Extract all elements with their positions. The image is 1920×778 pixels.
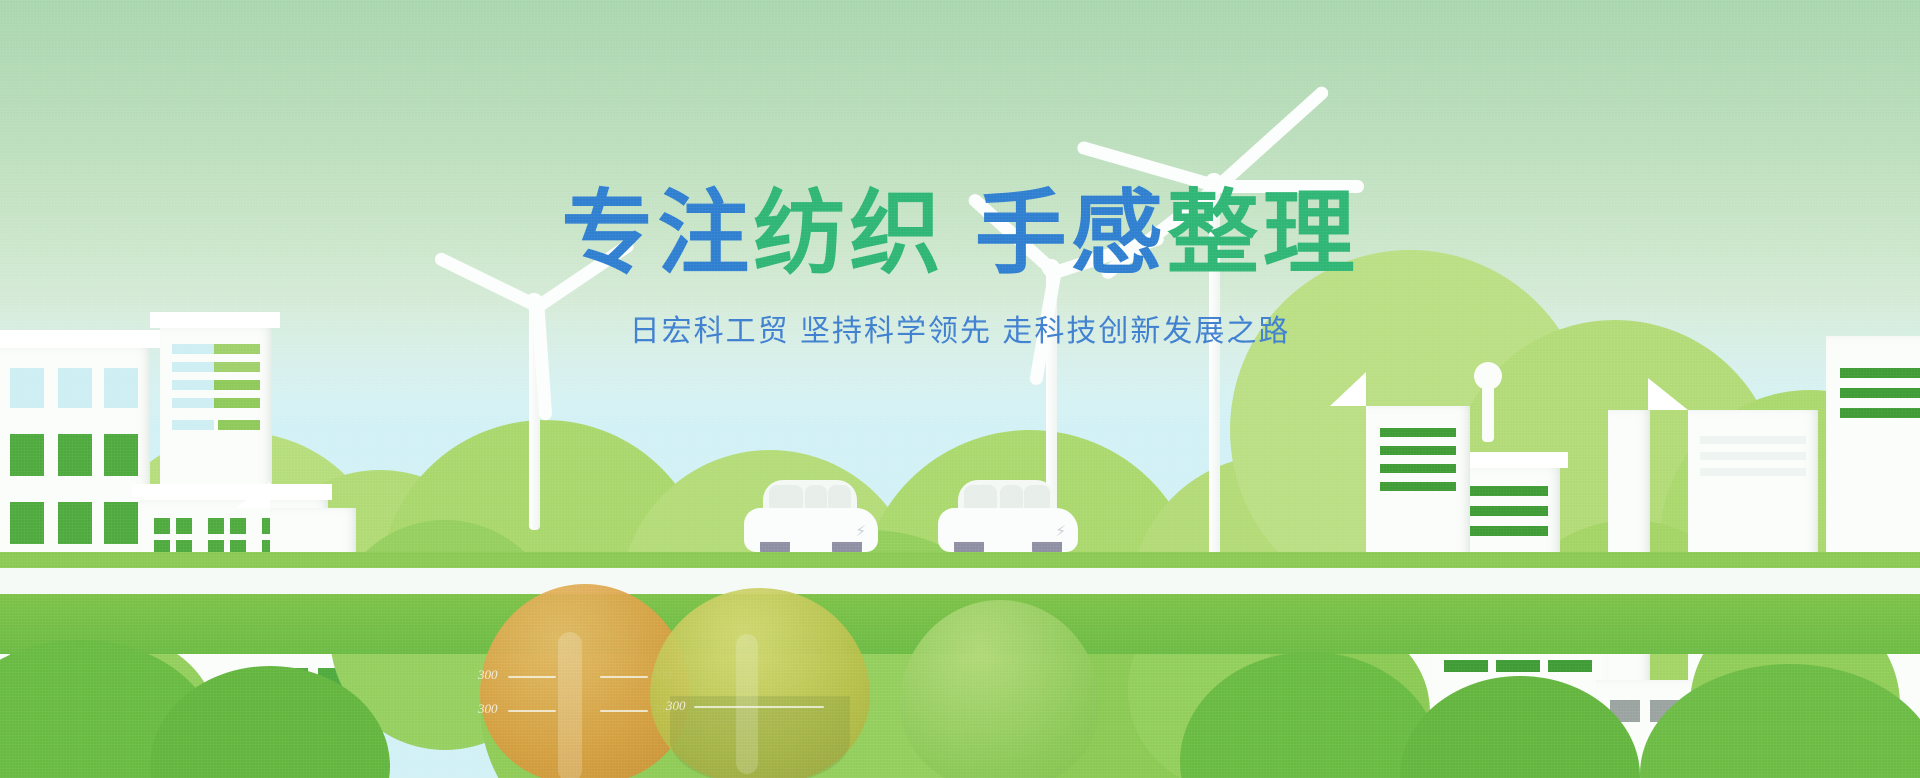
title-segment-2: 纺织: [753, 183, 945, 285]
car-lightning-badge: ⚡: [855, 522, 866, 540]
road-strip: [0, 568, 1920, 594]
title-segment-1: 专注: [561, 183, 753, 285]
beaker-scale-label: 300: [478, 667, 498, 683]
title-segment-3: 手感: [945, 183, 1167, 285]
title-segment-4: 整理: [1167, 183, 1359, 285]
car-lightning-badge: ⚡: [1055, 522, 1066, 540]
page-subtitle: 日宏科工贸 坚持科学领先 走科技创新发展之路: [0, 306, 1920, 350]
antenna-knob: [1474, 362, 1502, 390]
page-title: 专注纺织 手感整理: [0, 186, 1920, 283]
beaker-scale-label: 300: [666, 698, 686, 714]
beaker-scale-label: 300: [478, 701, 498, 717]
hero-banner: ⚡ ⚡ 300 300 300 300: [0, 0, 1920, 778]
